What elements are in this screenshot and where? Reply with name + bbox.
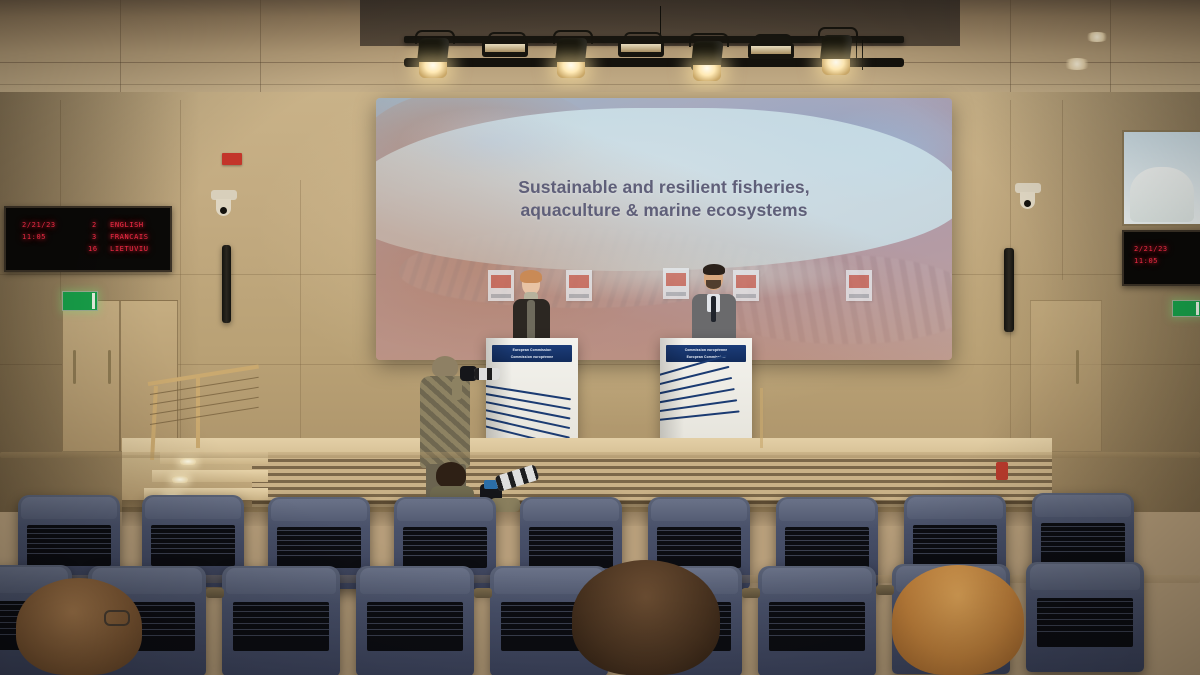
report-badge-2 bbox=[566, 270, 592, 301]
railing-post bbox=[196, 378, 200, 448]
ptz-camera-icon bbox=[211, 190, 237, 220]
door-left-b[interactable] bbox=[120, 300, 178, 452]
railing-post-right bbox=[760, 388, 763, 448]
seat-row2-4[interactable] bbox=[356, 566, 474, 675]
stage-spotlight bbox=[414, 28, 456, 82]
fire-alarm-icon[interactable] bbox=[222, 153, 242, 165]
seat-back-grille bbox=[27, 525, 111, 565]
seat-row2-7[interactable] bbox=[758, 566, 876, 675]
led-channel-number-1: 2 bbox=[92, 220, 97, 230]
report-badge-row bbox=[376, 270, 952, 308]
ceiling-downlight bbox=[1062, 58, 1092, 70]
seat-row2-3[interactable] bbox=[222, 566, 340, 675]
led-time-left: 11:05 bbox=[22, 232, 46, 242]
attendee-right bbox=[892, 565, 1024, 675]
led-display-right: 2/21/23 11:05 bbox=[1122, 230, 1200, 286]
flood-light-panel bbox=[482, 32, 528, 62]
podium-left: European Commission Commission européenn… bbox=[486, 338, 578, 444]
seat-armrest bbox=[474, 588, 492, 598]
seat-armrest bbox=[742, 588, 760, 598]
door-handle[interactable] bbox=[1076, 350, 1079, 384]
ceiling-panel-joint bbox=[120, 0, 121, 96]
ceiling-panel-joint bbox=[260, 0, 261, 96]
door-left-a[interactable] bbox=[62, 300, 120, 452]
door-handle[interactable] bbox=[108, 350, 111, 384]
door-handle[interactable] bbox=[73, 350, 76, 384]
speaker-left-shirt bbox=[527, 300, 535, 340]
ceiling-panel-joint bbox=[1110, 0, 1111, 96]
led-display-left: 2/21/23 11:05 2 ENGLISH 3 FRANCAIS 16 LI… bbox=[4, 206, 172, 272]
stage-step bbox=[152, 470, 268, 482]
presentation-headline: Sustainable and resilient fisheries, aqu… bbox=[376, 176, 952, 223]
speaker-right-hair bbox=[703, 264, 725, 275]
photographer-standing-arm bbox=[452, 378, 462, 400]
row-desk-strip bbox=[0, 452, 1200, 458]
flood-light-panel bbox=[748, 34, 794, 64]
ceiling-seam-secondary bbox=[0, 84, 1200, 85]
attendee-left-hair bbox=[16, 578, 142, 675]
led-channel-language-2: FRANCAIS bbox=[110, 232, 149, 242]
attendee-right-hair bbox=[892, 565, 1024, 675]
camera-lens bbox=[474, 368, 500, 380]
wall-loudspeaker-left bbox=[222, 245, 231, 323]
step-light bbox=[180, 458, 196, 465]
attendee-center-hair bbox=[572, 560, 720, 675]
led-channel-language-3: LIETUVIU bbox=[110, 244, 149, 254]
photographer-seated-head bbox=[436, 462, 466, 488]
wall-panel-seam bbox=[300, 180, 301, 440]
seat-armrest bbox=[206, 588, 224, 598]
wall-loudspeaker-right bbox=[1004, 248, 1014, 332]
stage-prop-cup bbox=[996, 462, 1008, 480]
seat-row2-9[interactable] bbox=[1026, 562, 1144, 672]
led-channel-language-1: ENGLISH bbox=[110, 220, 144, 230]
podium-right-shading bbox=[660, 338, 684, 444]
led-time-right: 11:05 bbox=[1134, 256, 1158, 266]
podium-left-shading bbox=[486, 338, 512, 444]
podium-right: Commission européenne European Commissio… bbox=[660, 338, 752, 444]
report-badge-5 bbox=[846, 270, 872, 301]
speaker-left-hair bbox=[520, 270, 542, 283]
attendee-center bbox=[572, 560, 720, 675]
interpreter-booth-window bbox=[1122, 130, 1200, 226]
led-date-right: 2/21/23 bbox=[1134, 244, 1168, 254]
step-light bbox=[172, 476, 188, 483]
door-right[interactable] bbox=[1030, 300, 1102, 452]
led-channel-number-3: 16 bbox=[88, 244, 98, 254]
headline-line-2: aquaculture & marine ecosystems bbox=[376, 199, 952, 222]
rig-cable bbox=[862, 40, 863, 70]
presentation-screen: Sustainable and resilient fisheries, aqu… bbox=[376, 98, 952, 360]
speaker-right-tie bbox=[711, 296, 716, 322]
stage-spotlight bbox=[688, 31, 730, 85]
exit-sign-right-icon bbox=[1172, 300, 1200, 317]
exit-sign-left-icon bbox=[62, 291, 98, 311]
stage-spotlight bbox=[552, 28, 594, 82]
headline-line-1: Sustainable and resilient fisheries, bbox=[376, 176, 952, 199]
attendee-left bbox=[16, 578, 142, 675]
led-channel-number-2: 3 bbox=[92, 232, 97, 242]
led-date-left: 2/21/23 bbox=[22, 220, 56, 230]
ceiling-panel-joint bbox=[1010, 0, 1011, 96]
attendee-left-glasses bbox=[104, 610, 130, 626]
ptz-camera-icon-right bbox=[1015, 183, 1041, 213]
speaker-right-beard bbox=[706, 280, 721, 289]
flood-light-panel bbox=[618, 32, 664, 62]
press-room-photo: 2/21/23 11:05 2 ENGLISH 3 FRANCAIS 16 LI… bbox=[0, 0, 1200, 675]
ceiling-downlight bbox=[1084, 32, 1110, 42]
stage-spotlight bbox=[817, 25, 859, 79]
camera-telephoto-lens bbox=[495, 464, 540, 492]
photographer-standing-head bbox=[432, 356, 458, 378]
